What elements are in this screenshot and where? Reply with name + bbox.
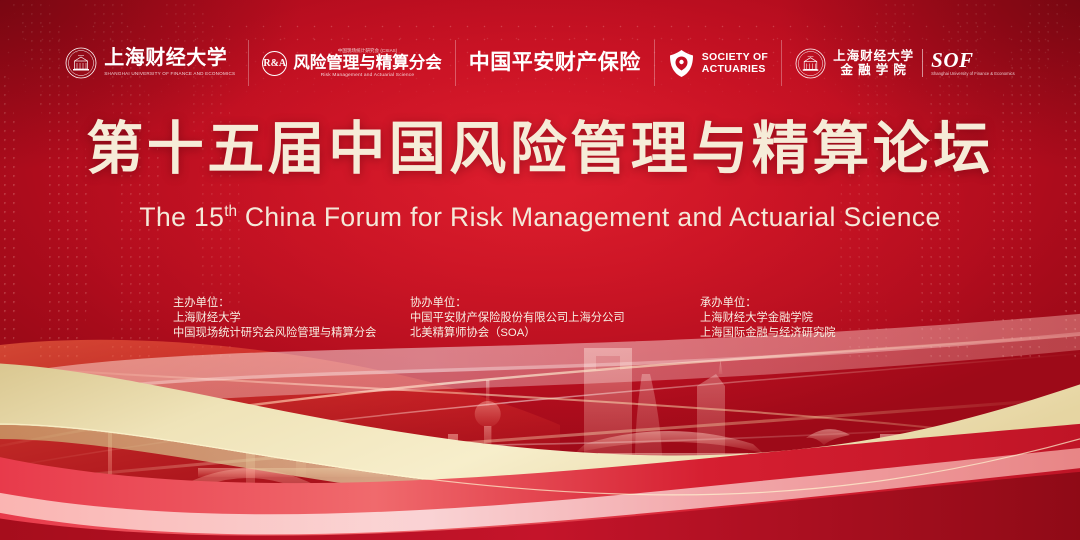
organizer-column-host: 主办单位： 上海财经大学 中国现场统计研究会风险管理与精算分会 — [165, 296, 410, 342]
organizer-organizer-line-2: 上海国际金融与经济研究院 — [700, 326, 915, 341]
organizer-cohost-line-1: 中国平安财产保险股份有限公司上海分公司 — [410, 311, 700, 326]
organizer-host-line-2: 中国现场统计研究会风险管理与精算分会 — [173, 326, 410, 341]
conference-banner: 上海财经大学 SHANGHAI UNIVERSITY OF FINANCE AN… — [0, 0, 1080, 540]
organizer-host-line-1: 上海财经大学 — [173, 311, 410, 326]
logo-sof-cn-line1: 上海财经大学 — [833, 49, 914, 63]
organizer-column-organizer: 承办单位： 上海财经大学金融学院 上海国际金融与经济研究院 — [700, 296, 915, 342]
logo-ping-an: 中国平安财产保险 — [455, 40, 654, 86]
sufe-seal-icon — [795, 48, 826, 79]
title-en-ordinal: th — [224, 203, 237, 220]
logo-sufe-cn: 上海财经大学 — [104, 48, 235, 69]
organizer-organizer-line-1: 上海财经大学金融学院 — [700, 311, 915, 326]
logo-ra-cn: 风险管理与精算分会 — [293, 54, 442, 72]
logo-soa-line1: SOCIETY OF — [702, 51, 768, 64]
logo-sufe-en: SHANGHAI UNIVERSITY OF FINANCE AND ECONO… — [104, 70, 235, 78]
logo-sof-abbr: SOF — [931, 49, 1015, 71]
logo-sof-abbr-sub: Shanghai University of Finance & Economi… — [931, 71, 1015, 77]
organizer-cohost-head: 协办单位： — [410, 296, 700, 311]
soa-shield-icon — [668, 49, 695, 78]
logo-risk-actuarial-branch: R&A 中国现场统计研究会 (CSIAS) 风险管理与精算分会 Risk Man… — [248, 40, 455, 86]
ra-badge-text: R&A — [263, 58, 286, 69]
page-title-cn: 第十五届中国风险管理与精算论坛 — [0, 118, 1080, 182]
page-title-en: The 15th China Forum for Risk Management… — [0, 196, 1080, 233]
logo-soa-line2: ACTUARIES — [702, 63, 768, 76]
logo-ping-an-cn: 中国平安财产保险 — [469, 51, 641, 75]
organizer-cohost-line-2: 北美精算师协会（SOA） — [410, 326, 700, 341]
organizer-columns: 主办单位： 上海财经大学 中国现场统计研究会风险管理与精算分会 协办单位： 中国… — [0, 296, 1080, 342]
logo-sufe: 上海财经大学 SHANGHAI UNIVERSITY OF FINANCE AN… — [52, 40, 248, 86]
logo-sof-divider — [922, 49, 923, 77]
title-en-after: China Forum for Risk Management and Actu… — [237, 202, 941, 232]
logo-sof: 上海财经大学 金 融 学 院 SOF Shanghai University o… — [781, 40, 1028, 86]
organizer-host-head: 主办单位： — [173, 296, 410, 311]
organizer-organizer-head: 承办单位： — [700, 296, 915, 311]
organizer-column-cohost: 协办单位： 中国平安财产保险股份有限公司上海分公司 北美精算师协会（SOA） — [410, 296, 700, 342]
sufe-seal-icon — [65, 47, 97, 79]
logo-society-of-actuaries: SOCIETY OF ACTUARIES — [654, 40, 781, 86]
title-en-before: The 15 — [139, 202, 224, 232]
logo-ra-en: Risk Management and Actuarial Science — [293, 72, 442, 80]
ra-badge-icon: R&A — [262, 51, 287, 76]
logo-sof-cn-line2: 金 融 学 院 — [833, 63, 914, 77]
partner-logo-bar: 上海财经大学 SHANGHAI UNIVERSITY OF FINANCE AN… — [0, 38, 1080, 88]
